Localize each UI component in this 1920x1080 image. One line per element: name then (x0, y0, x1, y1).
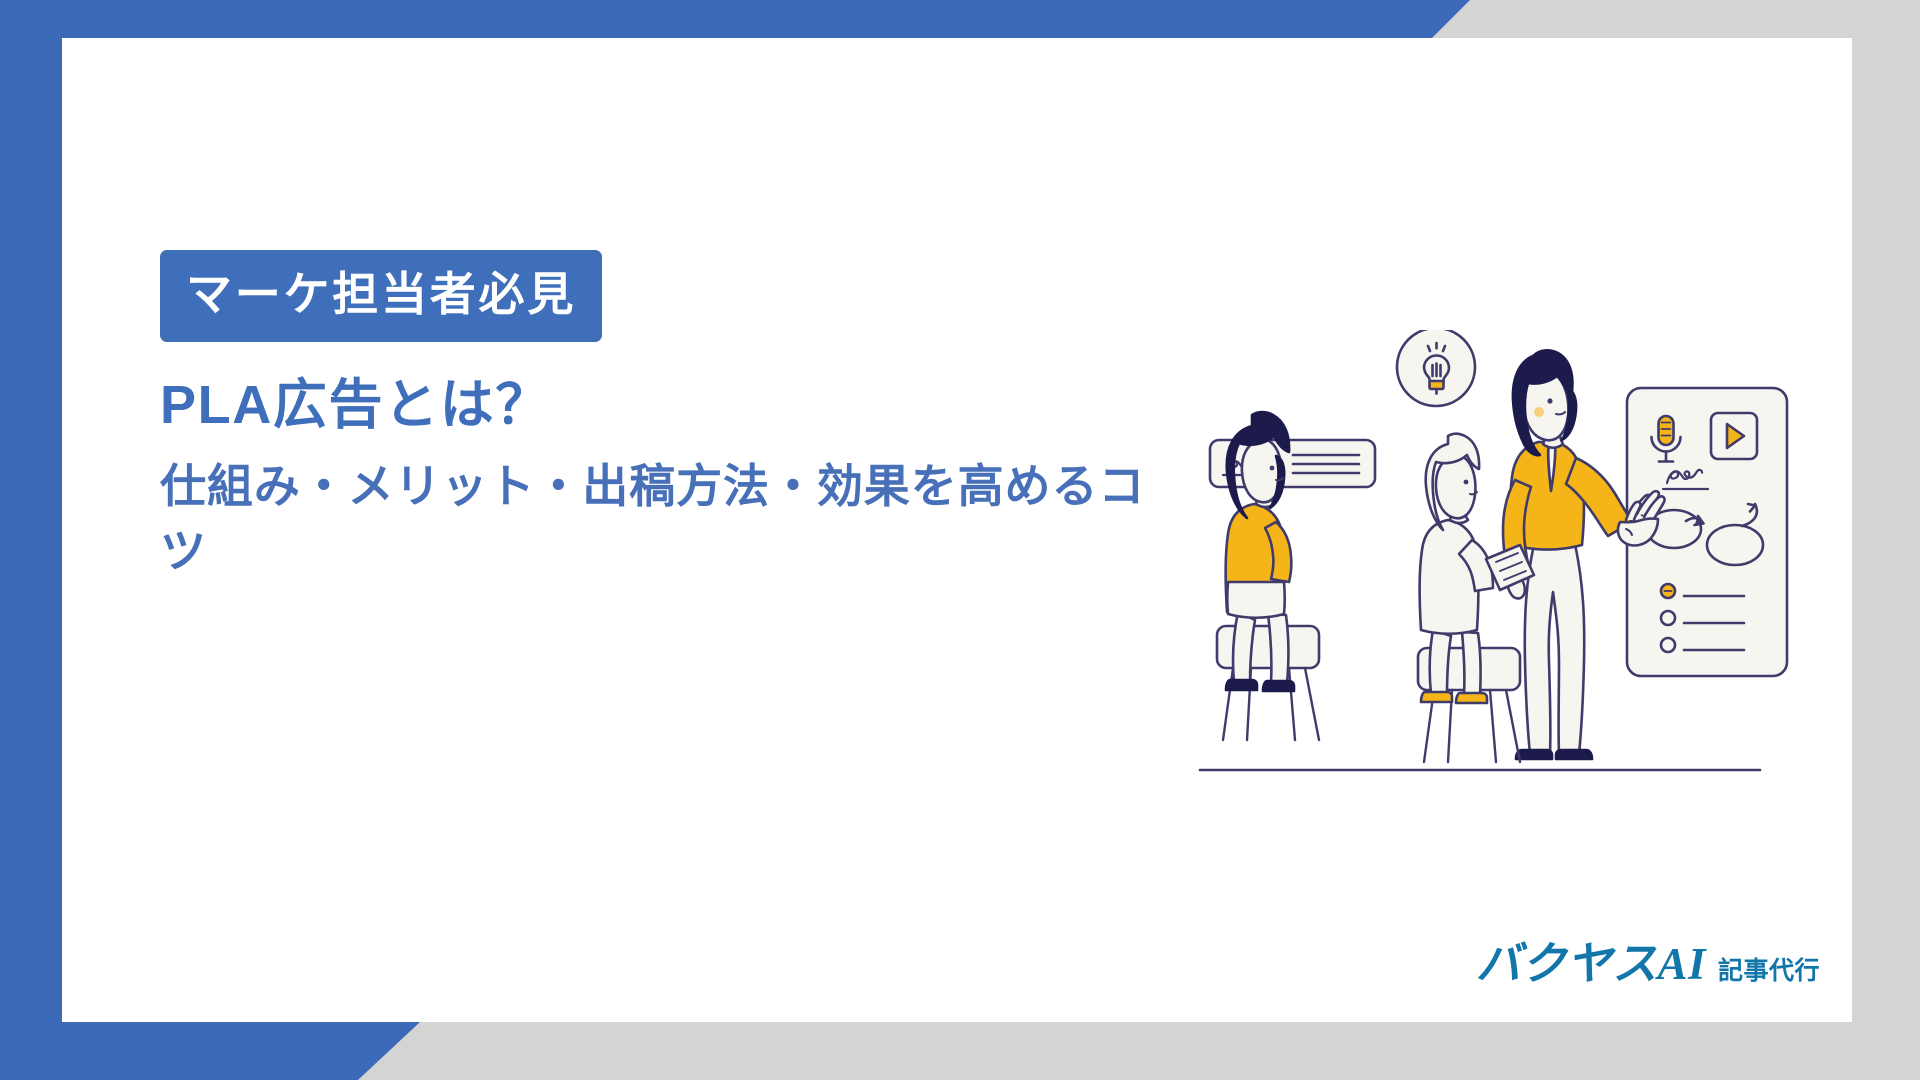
brand-logo-name: バクヤスAI (1476, 927, 1706, 992)
audience-badge: マーケ担当者必見 (160, 250, 602, 342)
slide-canvas: マーケ担当者必見 PLA広告とは？ 仕組み・メリット・出稿方法・効果を高めるコツ… (0, 0, 1920, 1080)
headline-block: マーケ担当者必見 PLA広告とは？ 仕組み・メリット・出稿方法・効果を高めるコツ (160, 250, 1240, 584)
page-title: PLA広告とは？ (160, 372, 1240, 440)
brand-logo: バクヤスAI 記事代行 (1476, 927, 1820, 992)
background-blue-top-bar (0, 0, 1470, 38)
presentation-scene-illustration (1190, 330, 1810, 850)
lightbulb-thought-bubble (1397, 330, 1475, 406)
brand-logo-service: 記事代行 (1718, 951, 1820, 987)
background-blue-bottom-bar (0, 1022, 420, 1080)
play-button-icon (1711, 413, 1757, 459)
page-subtitle: 仕組み・メリット・出稿方法・効果を高めるコツ (160, 454, 1180, 585)
background-blue-left-bar (0, 0, 62, 1080)
